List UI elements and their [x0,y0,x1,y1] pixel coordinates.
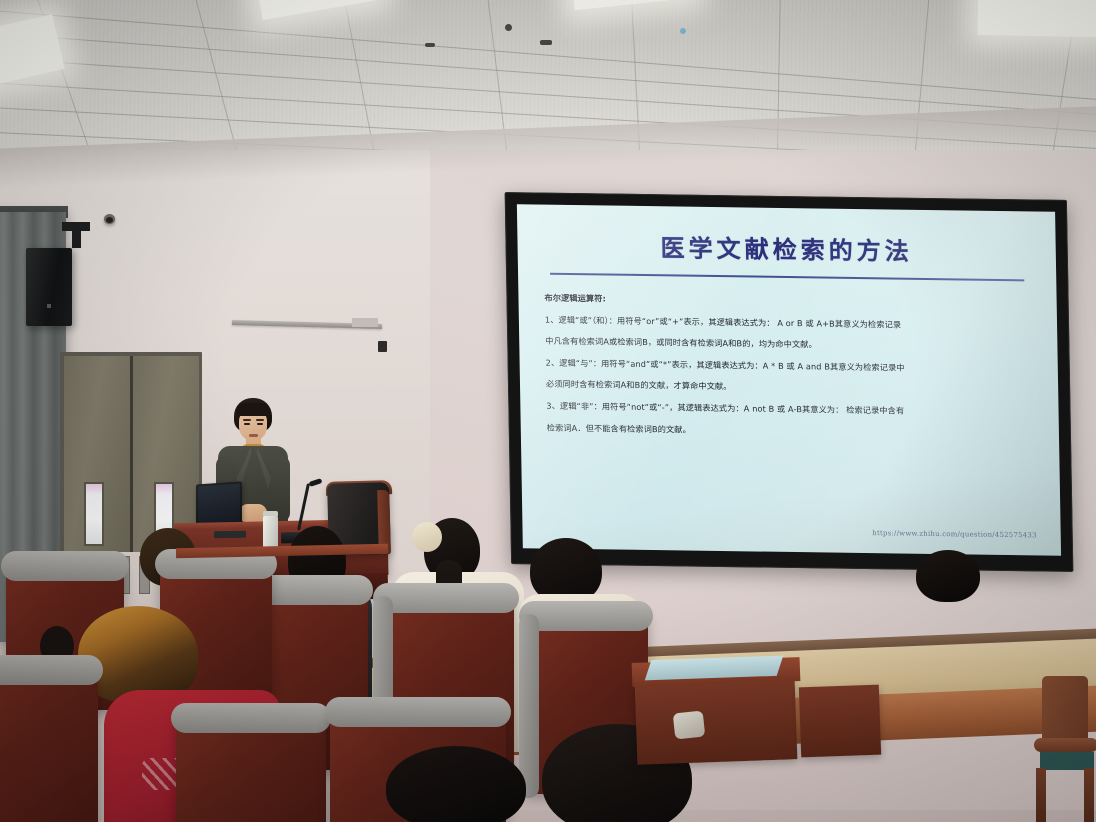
ceiling-panel-light [978,0,1096,37]
lecture-hall-photo: 医学文献检索的方法 布尔逻辑运算符: 1、逻辑“或”（和）：用符号“or”或“+… [0,0,1096,822]
projection-screen[interactable]: 医学文献检索的方法 布尔逻辑运算符: 1、逻辑“或”（和）：用符号“or”或“+… [505,191,1073,573]
presenter-hair-fringe [236,403,270,416]
seat-headrest [519,601,653,631]
wall-speaker [26,248,72,326]
student-desk [635,677,798,765]
presenter-mouth [249,434,258,437]
seat-headrest [325,697,511,727]
seat-headrest [1,551,129,581]
seat-headrest [171,703,331,733]
slide-source-url: https://www.zhihu.com/question/452575433 [872,529,1037,539]
armchair-leg [1084,768,1094,822]
ceiling-hook [378,341,387,352]
student-desk [799,685,881,758]
seat-side-pad [519,614,539,798]
audience-head [916,550,980,602]
curtain-rail-motor [352,318,378,327]
thermos-tumbler[interactable] [263,516,278,549]
seat-headrest [0,655,103,685]
armchair-arm [1034,738,1096,752]
slide-title: 医学文献检索的方法 [543,227,1030,269]
presenter-eyebrow-right [256,419,264,421]
ceiling-fixture [540,40,552,45]
presenter-eyebrow-left [243,419,251,421]
desk-accessory [214,531,246,539]
wooden-armchair[interactable] [1030,676,1096,822]
ceiling-smoke-detector [680,28,686,34]
desk-shelf-item [673,711,706,740]
slide-body: 布尔逻辑运算符: 1、逻辑“或”（和）：用符号“or”或“+”表示，其逻辑表达式… [544,288,1033,446]
audience-hair-scrunchie [412,522,442,552]
auditorium-seat[interactable] [0,664,98,822]
door-window-left [84,482,104,546]
speaker-bracket-arm [72,222,81,248]
slide-content: 医学文献检索的方法 布尔逻辑运算符: 1、逻辑“或”（和）：用符号“or”或“+… [517,204,1061,555]
ceiling-dome-camera-icon [104,214,115,224]
audience-head [386,746,526,822]
screen-surface: 医学文献检索的方法 布尔逻辑运算符: 1、逻辑“或”（和）：用符号“or”或“+… [517,204,1061,555]
ceiling-fixture [425,43,435,47]
door-gap [130,356,133,552]
seat-headrest [373,583,519,613]
auditorium-seat[interactable] [176,712,326,822]
ceiling-fixture [505,24,512,31]
title-divider [550,273,1024,282]
armchair-leg [1036,768,1046,822]
